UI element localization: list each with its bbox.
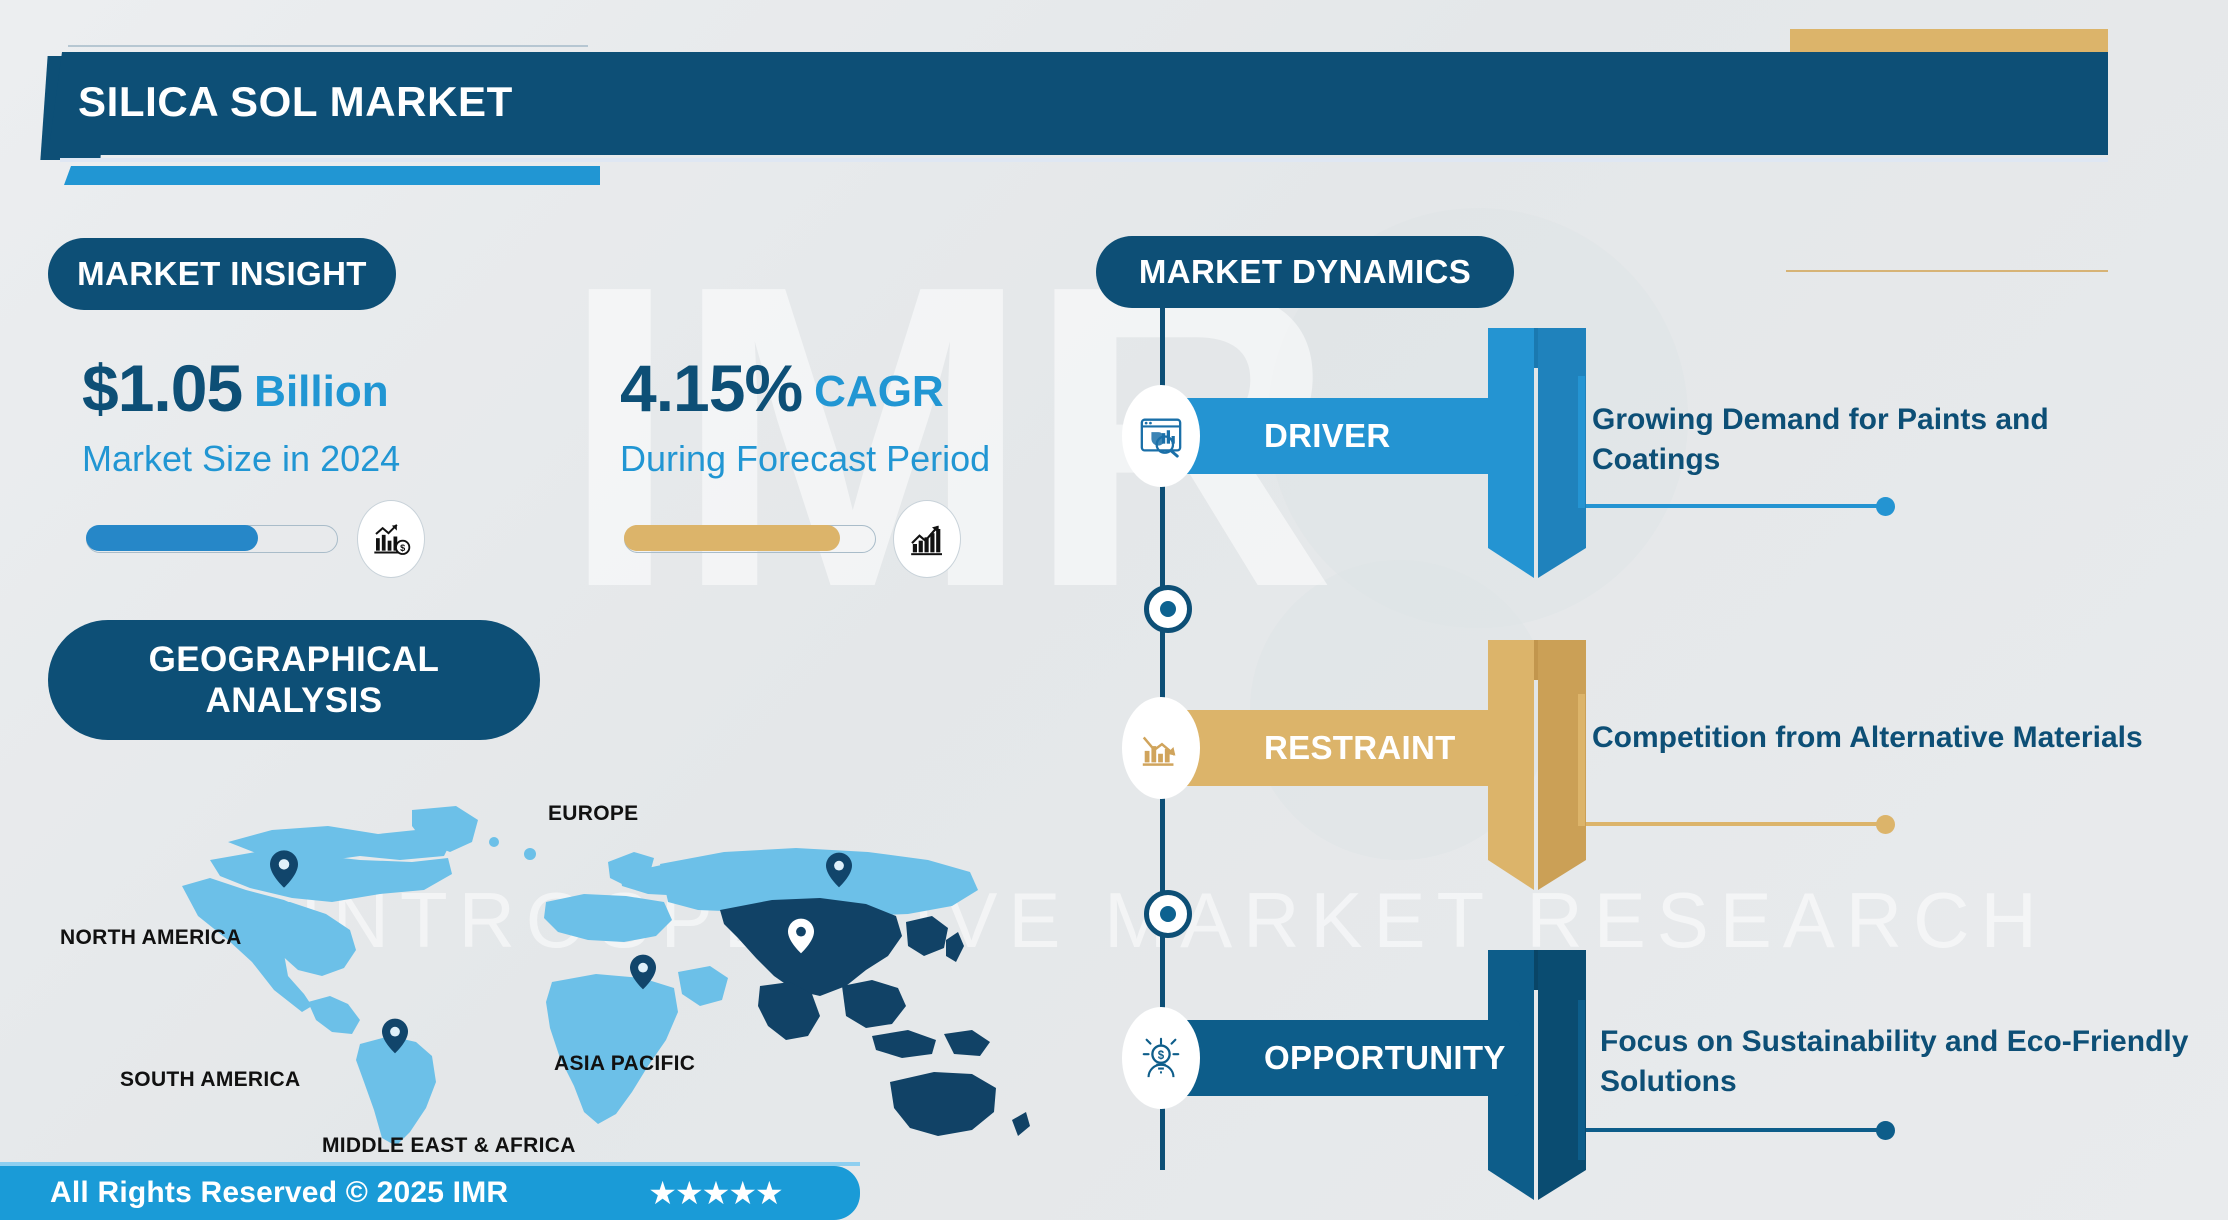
header-thin-line bbox=[68, 45, 588, 47]
driver-text: Growing Demand for Paints and Coatings bbox=[1592, 400, 2152, 479]
lightbulb-dollar-icon: $ bbox=[1122, 1007, 1200, 1109]
opportunity-tick bbox=[1578, 1000, 1585, 1160]
svg-text:$: $ bbox=[1158, 1050, 1165, 1062]
market-size-caption: Market Size in 2024 bbox=[82, 438, 400, 480]
geographical-analysis-pill: GEOGRAPHICAL ANALYSIS bbox=[48, 620, 540, 740]
restraint-label: RESTRAINT bbox=[1264, 729, 1456, 767]
cagr-unit: CAGR bbox=[814, 367, 944, 417]
geo-pill-label-line1: GEOGRAPHICAL bbox=[149, 639, 440, 680]
market-insight-pill-label: MARKET INSIGHT bbox=[77, 255, 367, 294]
restraint-tick bbox=[1578, 694, 1585, 826]
map-label-south-america: SOUTH AMERICA bbox=[120, 1068, 300, 1092]
market-size-unit: Billion bbox=[254, 367, 388, 417]
opportunity-connector-line bbox=[1586, 1128, 1886, 1132]
restraint-bar: RESTRAINT bbox=[1160, 710, 1520, 786]
growth-chart-arrow-icon bbox=[893, 500, 961, 578]
cagr-progress-fill bbox=[624, 525, 840, 551]
dashboard-analysis-icon bbox=[1122, 385, 1200, 487]
stat-cagr: 4.15%CAGR During Forecast Period bbox=[620, 350, 990, 480]
world-map: NORTH AMERICA SOUTH AMERICA EUROPE ASIA … bbox=[60, 790, 1060, 1150]
bar-chart-dollar-icon: $ bbox=[357, 500, 425, 578]
opportunity-label: OPPORTUNITY bbox=[1264, 1039, 1506, 1077]
footer-bar: All Rights Reserved © 2025 IMR ★★★★★ bbox=[0, 1166, 860, 1220]
cagr-progress-track bbox=[624, 525, 876, 553]
map-label-europe: EUROPE bbox=[548, 802, 639, 826]
market-size-progress-track bbox=[86, 525, 338, 553]
timeline-dot-2 bbox=[1144, 890, 1192, 938]
timeline-dot-1 bbox=[1144, 585, 1192, 633]
cagr-value: 4.15% bbox=[620, 350, 802, 426]
driver-connector-line bbox=[1586, 504, 1886, 508]
declining-chart-icon bbox=[1122, 697, 1200, 799]
header-underline-faint bbox=[60, 158, 2108, 162]
header-gold-accent bbox=[1790, 29, 2108, 55]
infographic-canvas: IMR INTROSPECTIVE MARKET RESEARCH SILICA… bbox=[0, 0, 2228, 1220]
header-blue-accent bbox=[64, 166, 600, 185]
map-label-asia-pacific: ASIA PACIFIC bbox=[554, 1052, 695, 1076]
map-pin-south-america bbox=[382, 1018, 408, 1054]
opportunity-bar: $ OPPORTUNITY bbox=[1160, 1020, 1520, 1096]
cagr-caption: During Forecast Period bbox=[620, 438, 990, 480]
geo-pill-label-line2: ANALYSIS bbox=[149, 680, 440, 721]
page-title: SILICA SOL MARKET bbox=[78, 78, 513, 126]
market-size-value: $1.05 bbox=[82, 350, 242, 426]
map-pin-europe bbox=[826, 852, 852, 888]
market-dynamics-pill-label: MARKET DYNAMICS bbox=[1139, 253, 1471, 292]
header-gold-thin-line bbox=[1786, 270, 2108, 272]
map-pin-middle-east-africa bbox=[630, 954, 656, 990]
driver-tick bbox=[1578, 376, 1585, 508]
driver-label: DRIVER bbox=[1264, 417, 1391, 455]
market-size-progress-fill bbox=[86, 525, 258, 551]
opportunity-text: Focus on Sustainability and Eco-Friendly… bbox=[1600, 1022, 2200, 1101]
driver-bar: DRIVER bbox=[1160, 398, 1520, 474]
map-pin-north-america bbox=[270, 850, 298, 888]
restraint-connector-line bbox=[1586, 822, 1886, 826]
footer-copyright: All Rights Reserved © 2025 IMR bbox=[50, 1176, 508, 1210]
map-label-north-america: NORTH AMERICA bbox=[60, 926, 242, 950]
map-label-middle-east-africa: MIDDLE EAST & AFRICA bbox=[322, 1134, 576, 1158]
market-dynamics-pill: MARKET DYNAMICS bbox=[1096, 236, 1514, 308]
svg-text:$: $ bbox=[400, 543, 405, 553]
stat-market-size: $1.05Billion Market Size in 2024 bbox=[82, 350, 400, 480]
restraint-text: Competition from Alternative Materials bbox=[1592, 718, 2152, 758]
map-pin-asia-pacific bbox=[788, 918, 814, 954]
market-insight-pill: MARKET INSIGHT bbox=[48, 238, 396, 310]
rating-stars-icon: ★★★★★ bbox=[648, 1174, 781, 1212]
